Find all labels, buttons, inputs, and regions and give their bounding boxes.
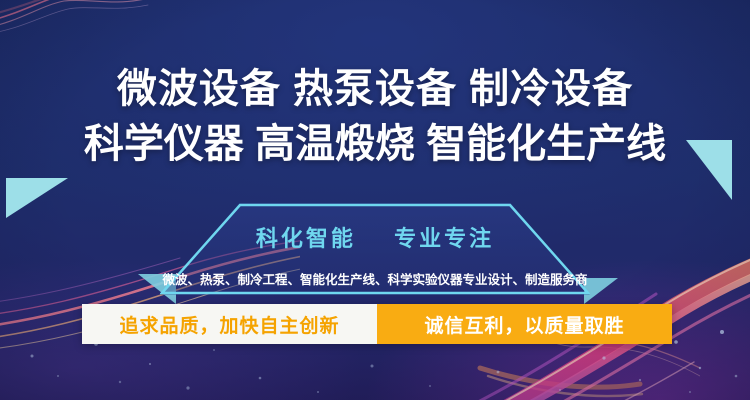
- slogan-left: 科化智能: [256, 226, 356, 251]
- cyan-triangle-left-icon: [6, 178, 68, 218]
- panel-subtitle: 微波、热泵、制冷工程、智能化生产线、科学实验仪器专业设计、制造服务商: [160, 269, 590, 288]
- promo-banner: 微波设备 热泵设备 制冷设备 科学仪器 高温煅烧 智能化生产线 科化智能 专业专…: [0, 0, 750, 400]
- tagline-bar: 追求品质，加快自主创新 诚信互利，以质量取胜: [82, 304, 672, 344]
- slogan-panel: 科化智能 专业专注 微波、热泵、制冷工程、智能化生产线、科学实验仪器专业设计、制…: [160, 203, 590, 295]
- headline-line-1: 微波设备 热泵设备 制冷设备: [0, 62, 750, 117]
- tagline-left: 追求品质，加快自主创新: [82, 304, 377, 344]
- headline-line-2: 科学仪器 高温煅烧 智能化生产线: [0, 117, 750, 172]
- headline: 微波设备 热泵设备 制冷设备 科学仪器 高温煅烧 智能化生产线: [0, 62, 750, 172]
- slogan-row: 科化智能 专业专注: [160, 221, 590, 253]
- slogan-right: 专业专注: [394, 226, 494, 251]
- tagline-right: 诚信互利，以质量取胜: [377, 304, 672, 344]
